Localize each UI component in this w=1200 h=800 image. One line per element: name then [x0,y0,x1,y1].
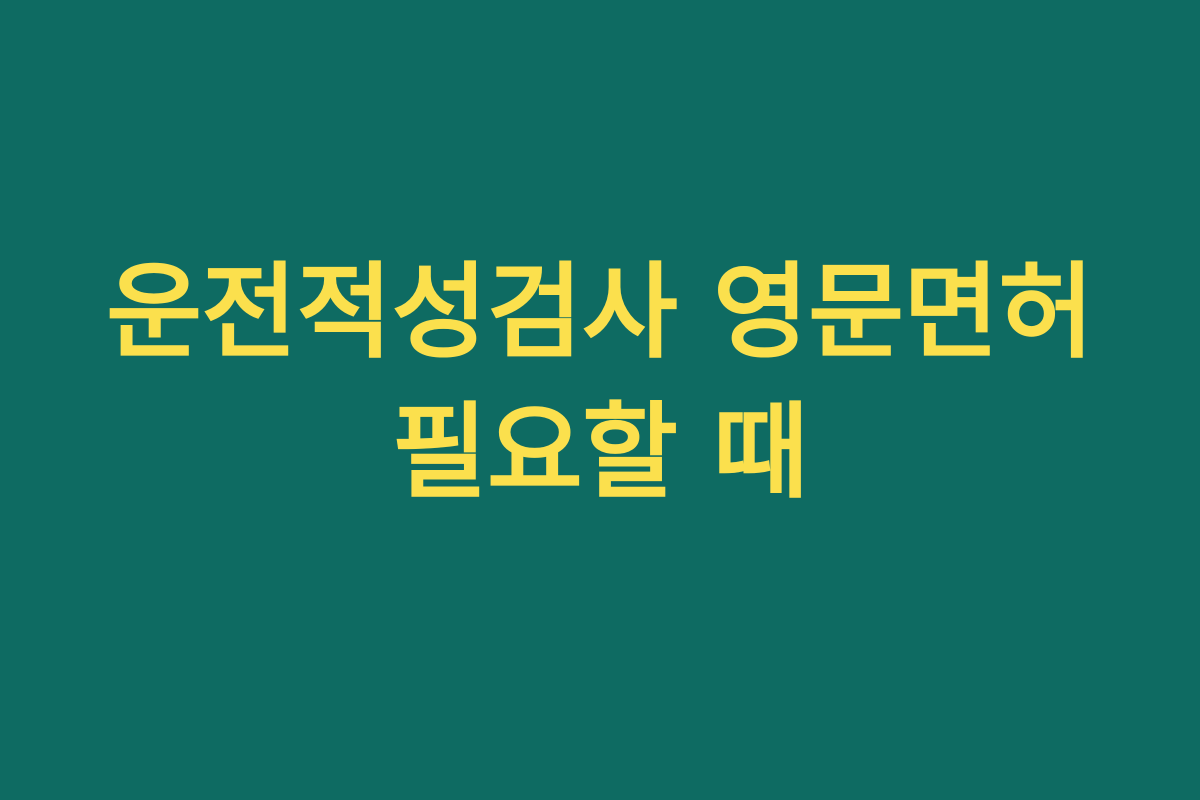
thumbnail-card: 운전적성검사 영문면허 필요할 때 [0,0,1200,800]
headline-line-2: 필요할 때 [40,382,1160,522]
headline-line-1: 운전적성검사 영문면허 [40,242,1160,382]
headline-block: 운전적성검사 영문면허 필요할 때 [0,242,1200,522]
